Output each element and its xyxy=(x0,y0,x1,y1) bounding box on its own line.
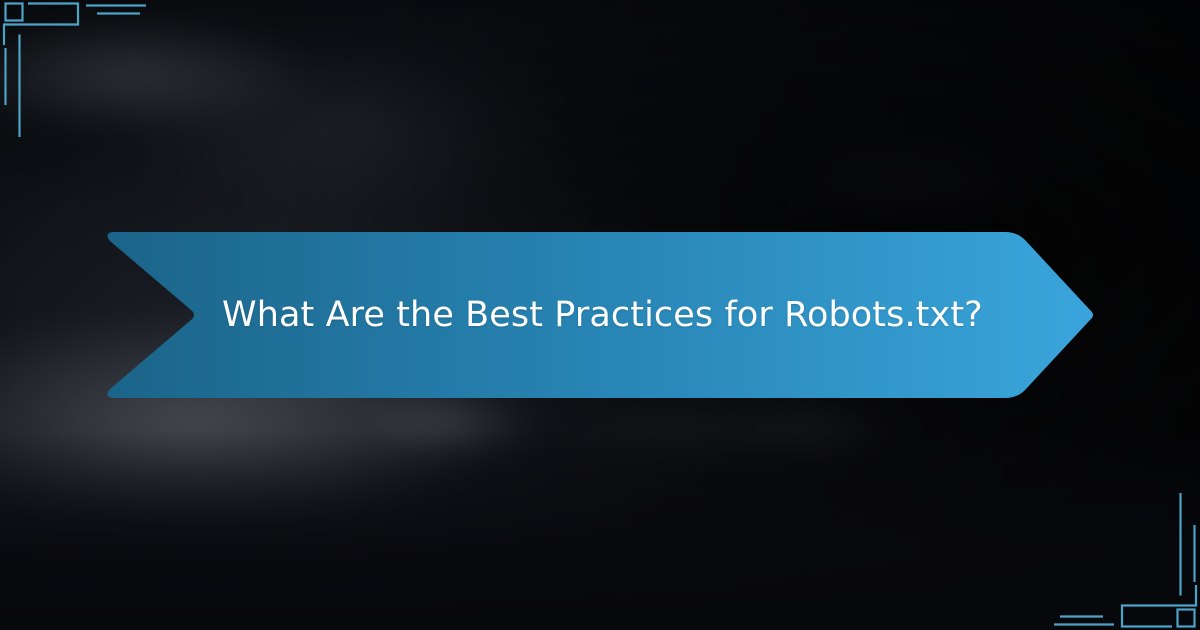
banner-canvas: What Are the Best Practices for Robots.t… xyxy=(0,0,1200,630)
banner-title: What Are the Best Practices for Robots.t… xyxy=(105,226,1095,404)
background-bottom-fade xyxy=(0,430,1200,630)
corner-bracket-bottom-right-icon xyxy=(1025,485,1200,630)
title-ribbon: What Are the Best Practices for Robots.t… xyxy=(105,226,1095,404)
corner-bracket-top-left-icon xyxy=(0,0,175,145)
